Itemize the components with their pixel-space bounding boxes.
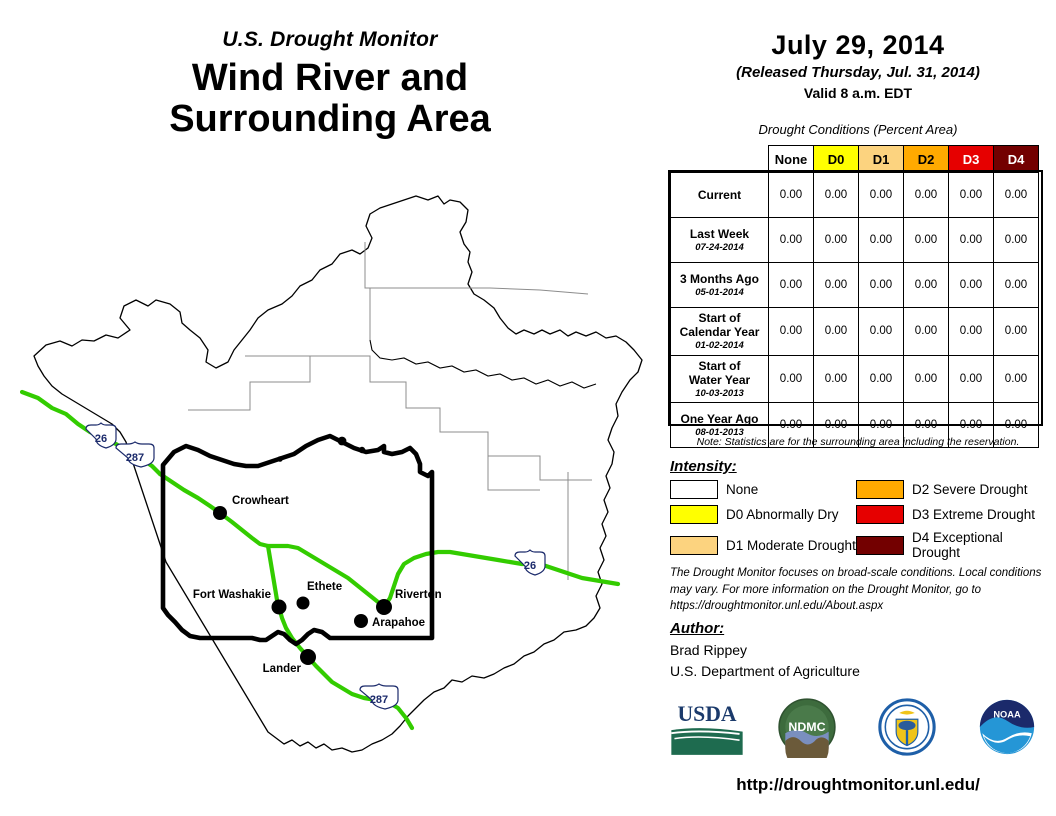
legend-label-d0: D0 Abnormally Dry xyxy=(726,507,839,522)
cell-current-d3: 0.00 xyxy=(949,173,994,218)
legend-item-d4: D4 Exceptional Drought xyxy=(856,530,1042,560)
row-label-text: 3 Months Ago xyxy=(680,272,759,286)
row-label-text: Current xyxy=(698,188,741,202)
row-label-start-of-water-year: Start ofWater Year 10-03-2013 xyxy=(671,355,769,403)
cell-lastweek-d0: 0.00 xyxy=(814,218,859,263)
cell-3months-d1: 0.00 xyxy=(859,263,904,308)
title-block: U.S. Drought Monitor Wind River and Surr… xyxy=(0,28,660,140)
legend-label-d1: D1 Moderate Drought xyxy=(726,538,856,553)
city-label-ethete: Ethete xyxy=(307,581,342,593)
author-name: Brad Rippey xyxy=(670,640,860,661)
cell-calyear-d1: 0.00 xyxy=(859,308,904,356)
legend-label-none: None xyxy=(726,482,758,497)
svg-text:NDMC: NDMC xyxy=(788,720,825,734)
row-label-date: 07-24-2014 xyxy=(675,242,764,253)
cell-calyear-none: 0.00 xyxy=(769,308,814,356)
report-valid-time: Valid 8 a.m. EDT xyxy=(668,85,1048,101)
page-title-line1: Wind River and xyxy=(0,58,660,99)
report-date-block: July 29, 2014 (Released Thursday, Jul. 3… xyxy=(668,30,1048,101)
author-heading: Author: xyxy=(670,620,724,637)
cell-3months-d2: 0.00 xyxy=(904,263,949,308)
column-header-d4: D4 xyxy=(994,146,1039,173)
row-label-text: One Year Ago xyxy=(680,412,758,426)
row-label-date: 10-03-2013 xyxy=(675,388,764,399)
cell-current-none: 0.00 xyxy=(769,173,814,218)
page-title-line2: Surrounding Area xyxy=(0,99,660,140)
column-header-none: None xyxy=(769,146,814,173)
drought-conditions-table: None D0 D1 D2 D3 D4 Current 0.00 0.00 0.… xyxy=(670,145,1039,448)
cell-lastweek-d2: 0.00 xyxy=(904,218,949,263)
noaa-logo: NOAA xyxy=(968,696,1046,758)
page-title: Wind River and Surrounding Area xyxy=(0,58,660,140)
city-label-crowheart: Crowheart xyxy=(232,495,289,507)
disclaimer-text: The Drought Monitor focuses on broad-sca… xyxy=(670,565,1045,615)
city-label-riverton: Riverton xyxy=(395,589,442,601)
cell-wateryear-none: 0.00 xyxy=(769,355,814,403)
legend-swatch-d3 xyxy=(856,505,904,524)
usdc-seal-logo xyxy=(868,696,946,758)
row-label-3-months-ago: 3 Months Ago 05-01-2014 xyxy=(671,263,769,308)
cell-lastweek-d3: 0.00 xyxy=(949,218,994,263)
report-released-on: (Released Thursday, Jul. 31, 2014) xyxy=(668,64,1048,81)
column-header-d2: D2 xyxy=(904,146,949,173)
row-label-text: Start ofWater Year xyxy=(689,359,750,387)
city-dot-arapahoe xyxy=(354,614,368,628)
legend-label-d3: D3 Extreme Drought xyxy=(912,507,1035,522)
city-dot-ethete xyxy=(297,597,310,610)
cell-wateryear-d4: 0.00 xyxy=(994,355,1039,403)
row-label-last-week: Last Week 07-24-2014 xyxy=(671,218,769,263)
cell-3months-d4: 0.00 xyxy=(994,263,1039,308)
ndmc-logo: NDMC xyxy=(768,696,846,758)
legend-label-d2: D2 Severe Drought xyxy=(912,482,1028,497)
cell-wateryear-d1: 0.00 xyxy=(859,355,904,403)
city-dot-crowheart xyxy=(213,506,227,520)
legend-swatch-d2 xyxy=(856,480,904,499)
legend-item-d0: D0 Abnormally Dry xyxy=(670,505,856,524)
legend-swatch-d1 xyxy=(670,536,718,555)
author-agency: U.S. Department of Agriculture xyxy=(670,661,860,682)
table-row: Start ofCalendar Year 01-02-2014 0.00 0.… xyxy=(671,308,1039,356)
highway-shield-us26-west: 26 xyxy=(86,423,116,448)
cell-current-d2: 0.00 xyxy=(904,173,949,218)
legend-swatch-d4 xyxy=(856,536,904,555)
intensity-legend: None D2 Severe Drought D0 Abnormally Dry… xyxy=(670,480,1042,560)
table-corner-cell xyxy=(671,146,769,173)
row-label-text: Last Week xyxy=(690,227,749,241)
table-caption: Drought Conditions (Percent Area) xyxy=(668,122,1048,137)
cell-calyear-d2: 0.00 xyxy=(904,308,949,356)
row-label-text: Start ofCalendar Year xyxy=(680,311,760,339)
legend-item-d2: D2 Severe Drought xyxy=(856,480,1042,499)
cell-3months-d3: 0.00 xyxy=(949,263,994,308)
svg-text:USDA: USDA xyxy=(677,702,736,726)
agency-logos: USDA NDMC NOAA xyxy=(668,692,1046,762)
cell-calyear-d4: 0.00 xyxy=(994,308,1039,356)
cell-lastweek-d4: 0.00 xyxy=(994,218,1039,263)
table-row: Start ofWater Year 10-03-2013 0.00 0.00 … xyxy=(671,355,1039,403)
cell-3months-none: 0.00 xyxy=(769,263,814,308)
cell-calyear-d0: 0.00 xyxy=(814,308,859,356)
shield-number-287-south: 287 xyxy=(370,694,388,706)
legend-swatch-none xyxy=(670,480,718,499)
cell-wateryear-d0: 0.00 xyxy=(814,355,859,403)
report-date: July 29, 2014 xyxy=(668,30,1048,61)
cell-lastweek-d1: 0.00 xyxy=(859,218,904,263)
city-dot-fort-washakie xyxy=(272,600,287,615)
cell-current-d4: 0.00 xyxy=(994,173,1039,218)
legend-item-none: None xyxy=(670,480,856,499)
table-note: Note: Statistics are for the surrounding… xyxy=(668,436,1048,448)
map-svg: Crowheart Fort Washakie Ethete Riverton … xyxy=(20,160,660,810)
surrounding-area-boundary xyxy=(34,196,642,752)
table-row: Current 0.00 0.00 0.00 0.00 0.00 0.00 xyxy=(671,173,1039,218)
column-header-d3: D3 xyxy=(949,146,994,173)
shield-number-287: 287 xyxy=(126,452,144,464)
table-row: Last Week 07-24-2014 0.00 0.00 0.00 0.00… xyxy=(671,218,1039,263)
table-header-row: None D0 D1 D2 D3 D4 xyxy=(671,146,1039,173)
svg-text:NOAA: NOAA xyxy=(993,710,1021,720)
legend-label-d4: D4 Exceptional Drought xyxy=(912,530,1042,560)
drought-monitor-kicker: U.S. Drought Monitor xyxy=(0,28,660,52)
cell-3months-d0: 0.00 xyxy=(814,263,859,308)
city-dot-riverton xyxy=(376,599,392,615)
table-row: 3 Months Ago 05-01-2014 0.00 0.00 0.00 0… xyxy=(671,263,1039,308)
city-dot-lander xyxy=(300,649,316,665)
cell-current-d1: 0.00 xyxy=(859,173,904,218)
cell-wateryear-d2: 0.00 xyxy=(904,355,949,403)
column-header-d0: D0 xyxy=(814,146,859,173)
cell-calyear-d3: 0.00 xyxy=(949,308,994,356)
legend-swatch-d0 xyxy=(670,505,718,524)
row-label-date: 01-02-2014 xyxy=(675,340,764,351)
legend-item-d1: D1 Moderate Drought xyxy=(670,530,856,560)
row-label-start-of-calendar-year: Start ofCalendar Year 01-02-2014 xyxy=(671,308,769,356)
shield-number-26: 26 xyxy=(95,433,107,445)
row-label-current: Current xyxy=(671,173,769,218)
column-header-d1: D1 xyxy=(859,146,904,173)
cell-lastweek-none: 0.00 xyxy=(769,218,814,263)
row-label-date: 05-01-2014 xyxy=(675,287,764,298)
legend-item-d3: D3 Extreme Drought xyxy=(856,505,1042,524)
highway-shield-us287-west: 287 xyxy=(116,442,154,467)
site-url[interactable]: http://droughtmonitor.unl.edu/ xyxy=(668,775,1048,795)
author-block: Brad Rippey U.S. Department of Agricultu… xyxy=(670,640,860,682)
shield-number-26-east: 26 xyxy=(524,560,536,572)
intensity-heading: Intensity: xyxy=(670,458,737,475)
usda-logo: USDA xyxy=(668,696,746,758)
city-label-fort-washakie: Fort Washakie xyxy=(193,589,271,601)
city-label-lander: Lander xyxy=(263,663,302,675)
city-label-arapahoe: Arapahoe xyxy=(372,617,425,629)
cell-current-d0: 0.00 xyxy=(814,173,859,218)
cell-wateryear-d3: 0.00 xyxy=(949,355,994,403)
drought-map[interactable]: Crowheart Fort Washakie Ethete Riverton … xyxy=(20,160,660,810)
